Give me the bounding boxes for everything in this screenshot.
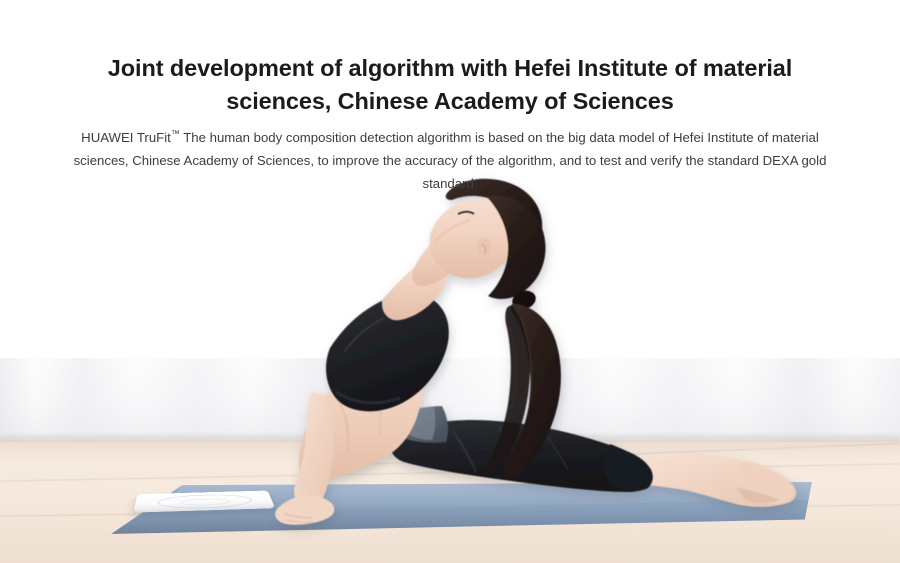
- subject-hand: [275, 495, 334, 525]
- trademark-icon: ™: [171, 129, 180, 139]
- page-title: Joint development of algorithm with Hefe…: [80, 52, 820, 118]
- subject-arm: [294, 392, 334, 508]
- subcopy-body: The human body composition detection alg…: [74, 130, 827, 191]
- subject-ear: [477, 238, 491, 258]
- hero-text-block: Joint development of algorithm with Hefe…: [0, 0, 900, 195]
- marketing-page: Joint development of algorithm with Hefe…: [0, 0, 900, 563]
- brand-name: HUAWEI TruFit: [81, 130, 171, 145]
- page-subcopy: HUAWEI TruFit™ The human body compositio…: [65, 126, 835, 195]
